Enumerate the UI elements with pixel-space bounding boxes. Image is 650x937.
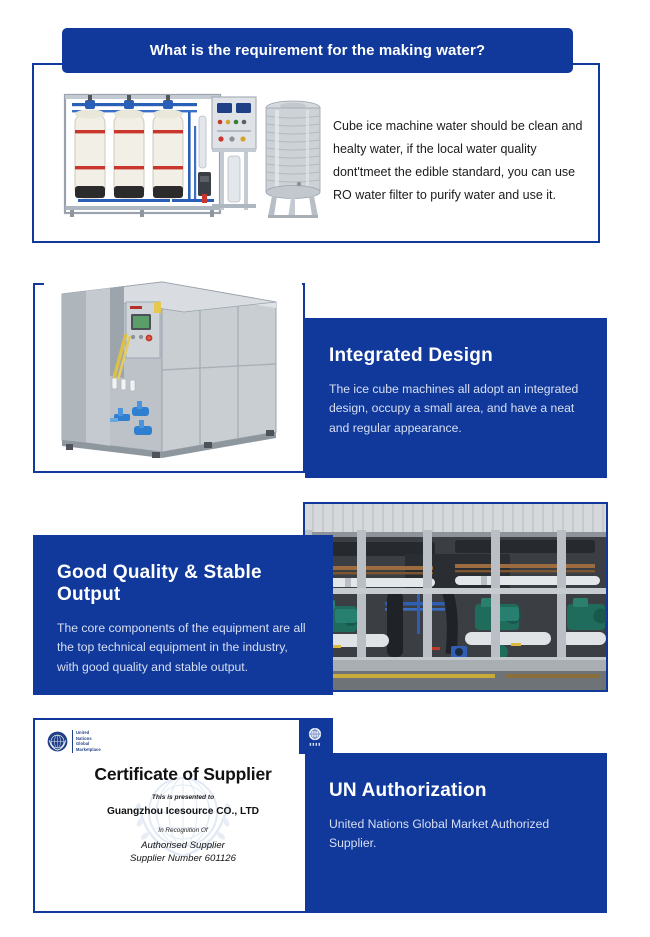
ungm-logo-text: United Nations Global Marketplace — [72, 730, 101, 753]
certificate-company-name: Guangzhou Icesource CO., LTD — [35, 806, 331, 817]
ice-cube-machine-image — [44, 274, 302, 468]
integrated-design-paragraph: The ice cube machines all adopt an integ… — [329, 380, 583, 438]
good-quality-paragraph: The core components of the equipment are… — [57, 619, 309, 677]
certificate-recognition-label: In Recognition Of — [35, 827, 331, 834]
un-authorization-card: UN Authorization United Nations Global M… — [305, 753, 607, 913]
section1-banner: What is the requirement for the making w… — [62, 28, 573, 73]
certificate-heading: Certificate of Supplier — [35, 764, 331, 785]
ungm-logo: United Nations Global Marketplace — [47, 730, 101, 753]
un-authorization-paragraph: United Nations Global Market Authorized … — [329, 815, 583, 854]
section1-paragraph: Cube ice machine water should be clean a… — [333, 115, 583, 208]
section1-banner-title: What is the requirement for the making w… — [150, 42, 485, 59]
un-seal-icon — [305, 725, 325, 749]
certificate-role: Authorised Supplier — [35, 840, 331, 851]
certificate-supplier-number: Supplier Number 601126 — [35, 853, 331, 864]
compressor-room-image — [303, 502, 608, 692]
un-seal-badge — [299, 720, 331, 754]
good-quality-card: Good Quality & Stable Output The core co… — [33, 535, 333, 695]
certificate-of-supplier: United Nations Global Marketplace — [35, 720, 331, 911]
product-detail-page: What is the requirement for the making w… — [0, 0, 650, 937]
integrated-design-card: Integrated Design The ice cube machines … — [305, 318, 607, 478]
ungm-logo-line-4: Marketplace — [76, 747, 101, 753]
un-authorization-title: UN Authorization — [329, 780, 583, 802]
certificate-frame: United Nations Global Marketplace — [33, 718, 333, 913]
certificate-presented-label: This is presented to — [35, 794, 331, 801]
un-emblem-icon — [47, 731, 68, 752]
certificate-body: Certificate of Supplier This is presente… — [35, 764, 331, 864]
good-quality-title: Good Quality & Stable Output — [57, 562, 309, 606]
integrated-design-title: Integrated Design — [329, 345, 583, 367]
ro-water-filter-image — [52, 86, 322, 222]
